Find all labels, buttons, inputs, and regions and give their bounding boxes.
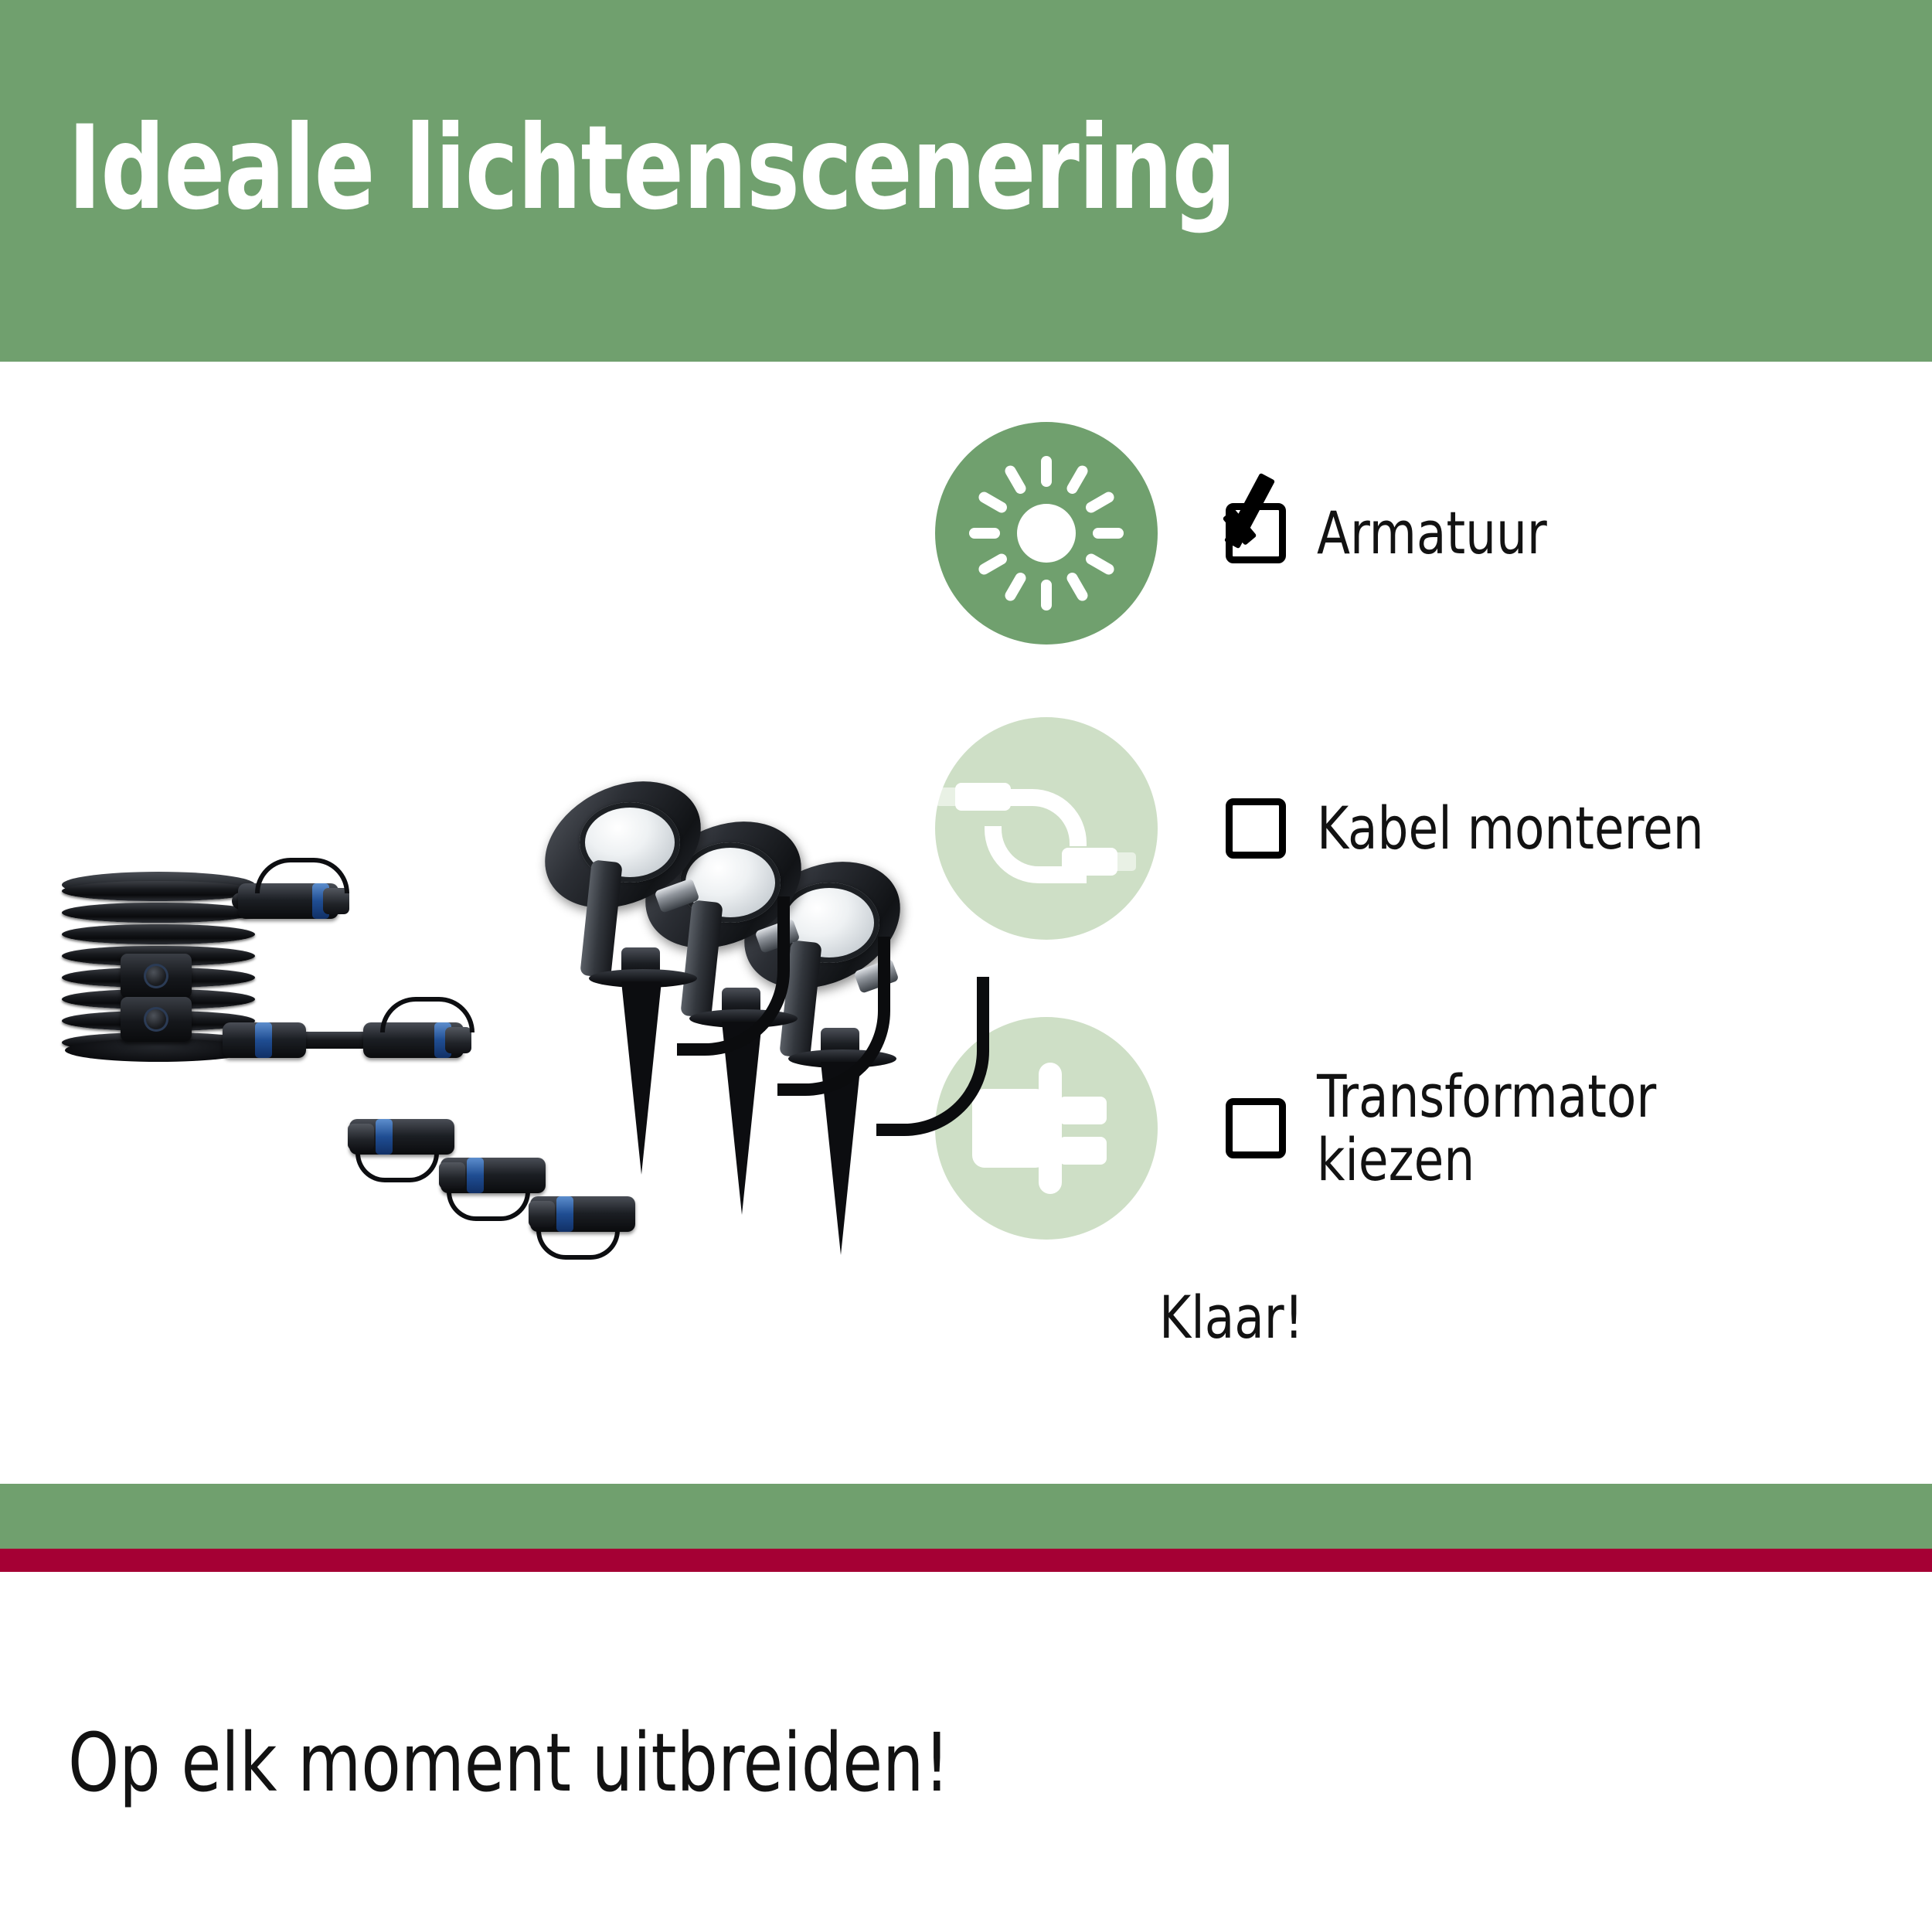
checklist-label-transformator: Transformator kiezen [1317,1065,1656,1192]
footer-green-bar [0,1484,1932,1549]
garden-spotlight [541,787,796,1219]
coil-ring [62,924,255,944]
checkbox-outline [1226,798,1286,859]
infographic-canvas: Ideale lichtenscenering [0,0,1932,1932]
cable-plug-end [1113,852,1136,871]
sun-icon-badge [935,422,1158,645]
connector-tip [529,1201,555,1227]
footer-text: Op elk moment uitbreiden! [68,1716,950,1810]
product-photo [0,696,951,1283]
sun-core [1017,504,1076,563]
sun-ray [1003,570,1028,603]
plug-stem [1039,1063,1062,1194]
sun-ray [969,528,1000,539]
connector-lanyard [447,1192,530,1221]
sun-ray [1083,490,1116,515]
checklist-row-transformator[interactable]: Transformator kiezen [935,1012,1901,1244]
cable-connector [223,1022,306,1058]
sun-ray [977,552,1009,577]
spotlight-connector [349,1119,454,1155]
connector-blue-ring [255,1022,272,1058]
checkbox-outline [1226,1098,1286,1158]
connector-lanyard [380,997,474,1032]
checklist-label-armatuur: Armatuur [1317,502,1547,565]
footer-crimson-bar [0,1549,1932,1572]
checklist: Armatuur Kabel monteren [935,417,1901,1437]
connector-tip [348,1124,374,1150]
coil-ring [62,903,255,923]
cable-plug [1062,848,1117,876]
connector-blue-ring [467,1158,484,1193]
connector-lanyard [255,858,349,893]
connector-lanyard [536,1230,620,1260]
checklist-label-kabel: Kabel monteren [1317,797,1704,860]
checkbox-kabel[interactable] [1226,798,1286,859]
checklist-done-label: Klaar! [1159,1283,1304,1352]
connector-tip [439,1162,465,1189]
checkbox-transformator[interactable] [1226,1098,1286,1158]
connector-blue-ring [376,1119,393,1155]
sun-icon [969,456,1124,611]
spotlight-connector [440,1158,546,1193]
connector-lanyard [355,1153,439,1182]
coil-ring [62,881,255,901]
spotlight-connector [530,1196,635,1232]
plug-pin [1059,1097,1107,1124]
check-icon [1230,475,1286,546]
sun-ray [1065,570,1090,603]
checklist-row-armatuur[interactable]: Armatuur [935,417,1901,649]
sun-ray [977,490,1009,515]
coil-connector-box [121,997,192,1042]
sun-ray [1003,464,1028,496]
plug-pin [1059,1137,1107,1165]
sun-ray [1041,580,1052,611]
page-title: Ideale lichtenscenering [68,108,1236,230]
spotlight-ground-spike [621,981,662,1175]
sun-ray [1065,464,1090,496]
checkbox-armatuur[interactable] [1226,503,1286,563]
coil-connector-box [121,954,192,998]
sun-ray [1083,552,1116,577]
sun-ray [1093,528,1124,539]
checklist-row-kabel[interactable]: Kabel monteren [935,713,1901,944]
connector-blue-ring [556,1196,573,1232]
sun-ray [1041,456,1052,487]
cable-icon [961,778,1131,879]
